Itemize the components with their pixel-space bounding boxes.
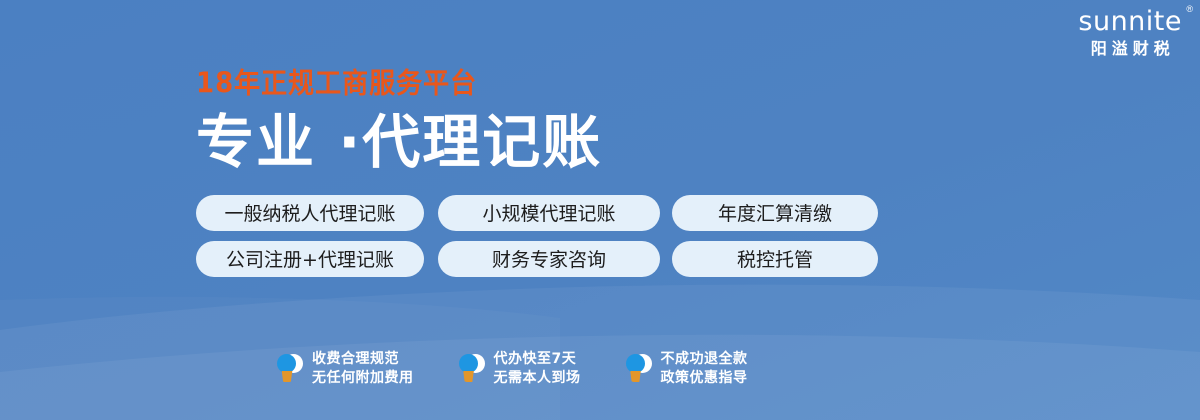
hero-content: 18年正规工商服务平台 专业 ·代理记账 一般纳税人代理记账 小规模代理记账 年… (196, 70, 878, 287)
lightbulb-icon (625, 352, 652, 384)
service-pill-annual-tax-settlement[interactable]: 年度汇算清缴 (672, 195, 878, 231)
service-pill-finance-expert-consulting[interactable]: 财务专家咨询 (438, 241, 660, 277)
lightbulb-icon (458, 352, 485, 384)
promo-banner: sunnite ® 阳溢财税 18年正规工商服务平台 专业 ·代理记账 一般纳税… (0, 0, 1200, 420)
feature-item-pricing: 收费合理规范 无任何附加费用 (276, 350, 414, 388)
service-pill-company-registration-bookkeeping[interactable]: 公司注册+代理记账 (196, 241, 424, 277)
feature-line-1: 不成功退全款 (661, 351, 748, 367)
feature-line-1: 代办快至7天 (494, 351, 577, 367)
logo-chinese-name: 阳溢财税 (1078, 42, 1182, 58)
service-pill-tax-control-hosting[interactable]: 税控托管 (672, 241, 878, 277)
lightbulb-icon (276, 352, 303, 384)
registered-trademark-icon: ® (1186, 5, 1193, 14)
feature-item-speed: 代办快至7天 无需本人到场 (458, 350, 581, 388)
service-pill-group: 一般纳税人代理记账 小规模代理记账 年度汇算清缴 公司注册+代理记账 财务专家咨… (196, 195, 878, 277)
service-pill-small-scale-bookkeeping[interactable]: 小规模代理记账 (438, 195, 660, 231)
hero-tagline: 18年正规工商服务平台 (196, 70, 878, 98)
feature-text: 代办快至7天 无需本人到场 (494, 350, 581, 388)
service-pill-row: 公司注册+代理记账 财务专家咨询 税控托管 (196, 241, 878, 277)
feature-item-guarantee: 不成功退全款 政策优惠指导 (625, 350, 748, 388)
feature-line-1: 收费合理规范 (312, 351, 399, 367)
feature-line-2: 政策优惠指导 (661, 370, 748, 386)
page-title: 专业 ·代理记账 (196, 112, 878, 173)
service-pill-row: 一般纳税人代理记账 小规模代理记账 年度汇算清缴 (196, 195, 878, 231)
feature-list: 收费合理规范 无任何附加费用 代办快至7天 无需本人到场 不成功退全款 政策优惠… (276, 350, 748, 388)
logo-wordmark: sunnite (1078, 8, 1182, 35)
brand-logo[interactable]: sunnite ® 阳溢财税 (1078, 8, 1182, 58)
feature-line-2: 无需本人到场 (494, 370, 581, 386)
feature-line-2: 无任何附加费用 (312, 370, 414, 386)
feature-text: 不成功退全款 政策优惠指导 (661, 350, 748, 388)
feature-text: 收费合理规范 无任何附加费用 (312, 350, 414, 388)
service-pill-general-taxpayer-bookkeeping[interactable]: 一般纳税人代理记账 (196, 195, 424, 231)
